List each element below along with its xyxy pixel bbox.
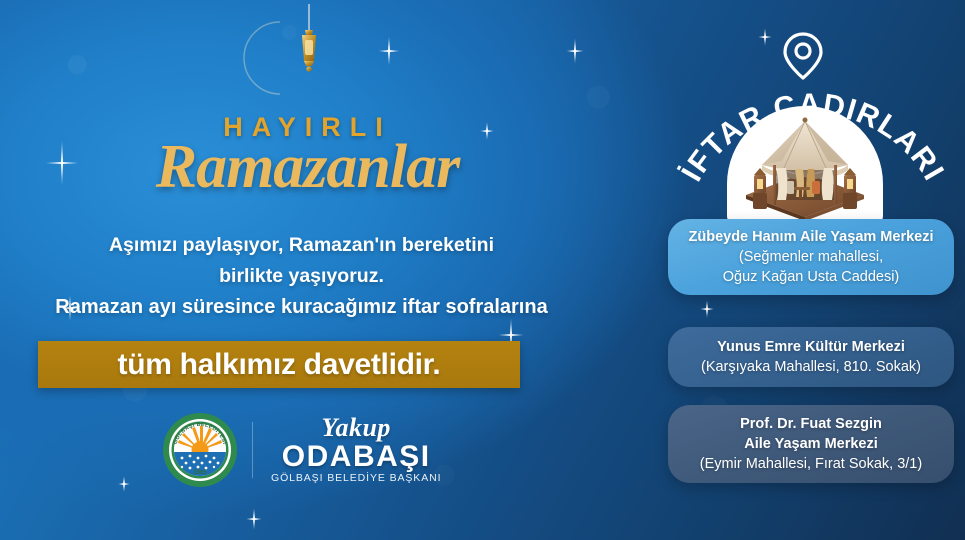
venue-address-line-1: (Seğmenler mahallesi,: [739, 247, 883, 267]
invitation-banner-label: tüm halkımız davetlidir.: [118, 348, 441, 382]
venue-name-line-1: Prof. Dr. Fuat Sezgin: [740, 414, 882, 434]
emblem-year: 1965: [193, 470, 207, 476]
sparkle-decoration: [118, 476, 130, 492]
body-copy: Aşımızı paylaşıyor, Ramazan'ın bereketin…: [0, 230, 613, 323]
venue-card[interactable]: Prof. Dr. Fuat Sezgin Aile Yaşam Merkezi…: [668, 405, 954, 483]
venue-card[interactable]: Yunus Emre Kültür Merkezi (Karşıyaka Mah…: [668, 327, 954, 387]
venue-card[interactable]: Zübeyde Hanım Aile Yaşam Merkezi (Seğmen…: [668, 219, 954, 295]
mayor-last-name: ODABAŞI: [271, 441, 441, 472]
crescent-moon-lantern: [210, 4, 360, 112]
sparkle-decoration: [566, 38, 584, 64]
logo-divider: [252, 422, 253, 478]
municipality-logo-block: GÖLBAŞI BELEDİYESİ 1965 Yakup ODABAŞI GÖ…: [162, 412, 441, 488]
mayor-first-name: Yakup: [271, 415, 441, 441]
venue-address-line-1: (Karşıyaka Mahallesi, 810. Sokak): [701, 357, 921, 377]
venue-name-line-2: Aile Yaşam Merkezi: [744, 434, 878, 454]
venue-name: Yunus Emre Kültür Merkezi: [717, 337, 905, 357]
iftar-tent-icon: [727, 106, 883, 224]
location-pin-icon: [779, 30, 827, 82]
golbasi-municipality-emblem-icon: GÖLBAŞI BELEDİYESİ 1965: [162, 412, 238, 488]
sparkle-decoration: [758, 28, 772, 46]
venue-name: Zübeyde Hanım Aile Yaşam Merkezi: [689, 227, 934, 247]
venue-address-line-2: Oğuz Kağan Usta Caddesi): [723, 267, 900, 287]
venue-address-line-1: (Eymir Mahallesi, Fırat Sokak, 3/1): [700, 454, 922, 474]
page-title: Ramazanlar: [0, 132, 615, 203]
ramadan-poster: HAYIRLI Ramazanlar Aşımızı paylaşıyor, R…: [0, 0, 965, 540]
invitation-banner: tüm halkımız davetlidir.: [38, 341, 520, 388]
sparkle-decoration: [246, 508, 262, 530]
body-line-1: Aşımızı paylaşıyor, Ramazan'ın bereketin…: [0, 230, 613, 261]
body-line-3: Ramazan ayı süresince kuracağımız iftar …: [0, 292, 613, 323]
mayor-name-block: Yakup ODABAŞI GÖLBAŞI BELEDİYE BAŞKANI: [267, 415, 441, 485]
body-line-2: birlikte yaşıyoruz.: [0, 261, 613, 292]
mayor-role: GÖLBAŞI BELEDİYE BAŞKANI: [271, 472, 441, 485]
sparkle-decoration: [700, 300, 714, 318]
sparkle-decoration: [378, 36, 400, 66]
